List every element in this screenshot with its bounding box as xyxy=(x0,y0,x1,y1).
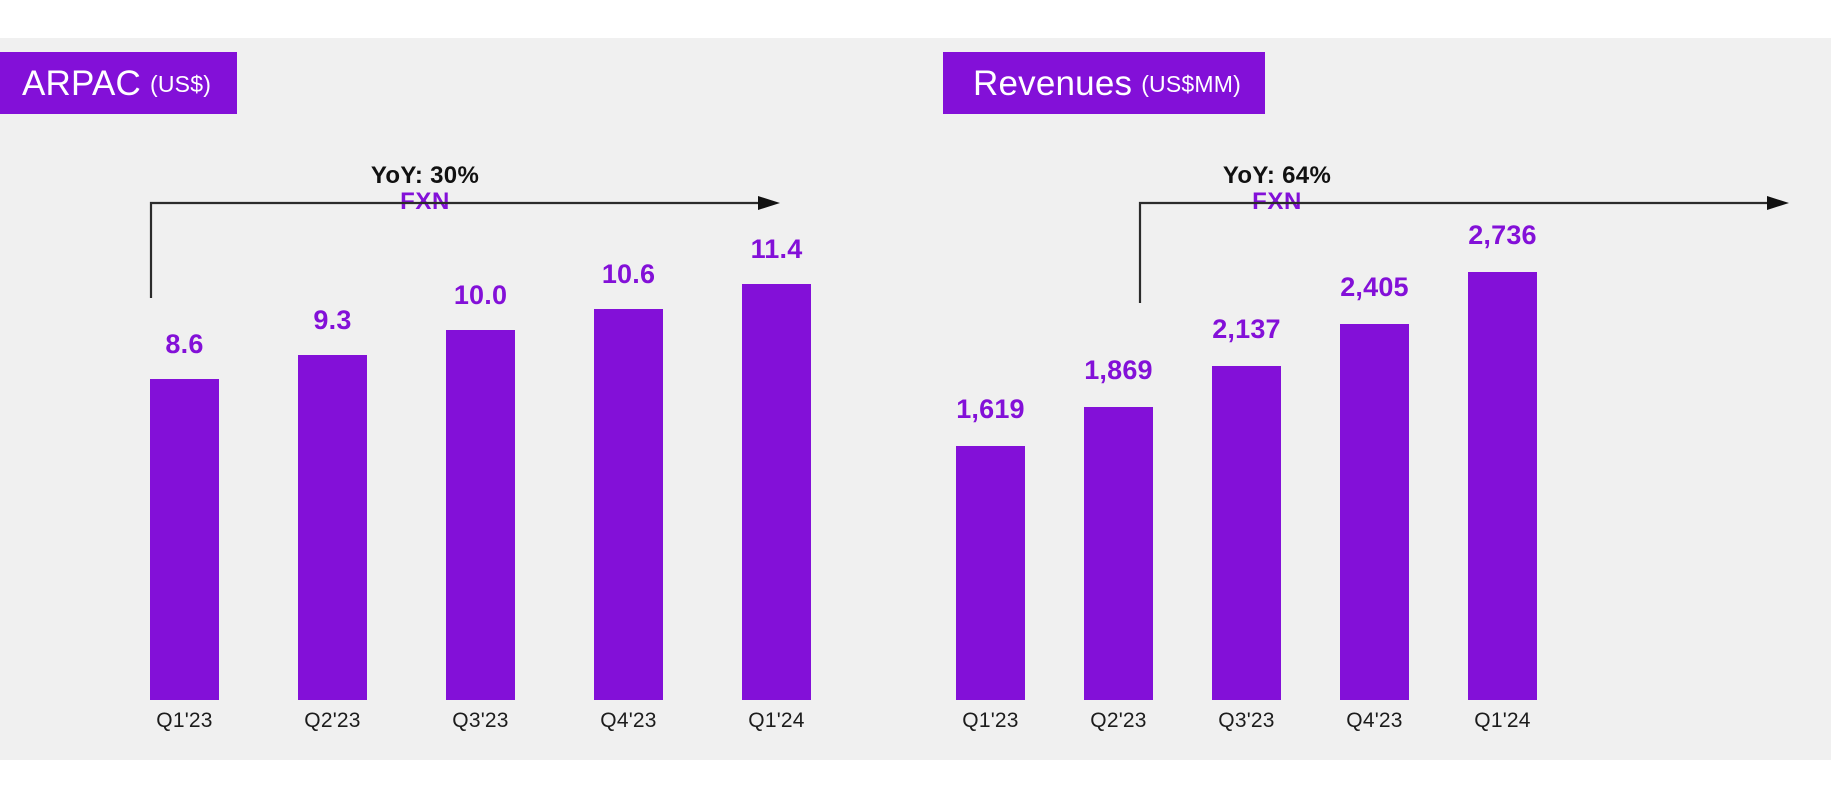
bar-value-revenues-q2-23: 1,869 xyxy=(1050,355,1187,386)
bar-arpac-q4-23 xyxy=(594,309,663,700)
bar-revenues-q1-23 xyxy=(956,446,1025,700)
bar-arpac-q1-23 xyxy=(150,379,219,700)
bar-value-revenues-q3-23: 2,137 xyxy=(1178,314,1315,345)
cat-label-revenues-q3-23: Q3'23 xyxy=(1178,709,1315,733)
slide-root: ARPAC (US$) YoY: 30% FXN 8.6 Q1'23 9.3 Q… xyxy=(0,0,1831,802)
slide-canvas: ARPAC (US$) YoY: 30% FXN 8.6 Q1'23 9.3 Q… xyxy=(0,38,1831,760)
bar-revenues-q3-23 xyxy=(1212,366,1281,700)
cat-label-revenues-q4-23: Q4'23 xyxy=(1306,709,1443,733)
cat-label-arpac-q1-23: Q1'23 xyxy=(116,709,253,733)
bar-value-arpac-q4-23: 10.6 xyxy=(560,259,697,290)
cat-label-revenues-q1-24: Q1'24 xyxy=(1434,709,1571,733)
bar-value-arpac-q3-23: 10.0 xyxy=(412,280,549,311)
panel-revenues: Revenues (US$MM) YoY: 64% FXN 1,619 Q1'2… xyxy=(915,38,1831,760)
bar-arpac-q3-23 xyxy=(446,330,515,700)
bar-value-arpac-q1-24: 11.4 xyxy=(708,234,845,265)
bar-value-revenues-q1-23: 1,619 xyxy=(922,394,1059,425)
bar-arpac-q1-24 xyxy=(742,284,811,700)
panel-arpac: ARPAC (US$) YoY: 30% FXN 8.6 Q1'23 9.3 Q… xyxy=(0,38,915,760)
arpac-plot-area: 8.6 Q1'23 9.3 Q2'23 10.0 Q3'23 10.6 Q4'2… xyxy=(0,38,915,760)
bar-value-revenues-q1-24: 2,736 xyxy=(1434,220,1571,251)
bar-revenues-q1-24 xyxy=(1468,272,1537,700)
cat-label-revenues-q2-23: Q2'23 xyxy=(1050,709,1187,733)
bar-revenues-q2-23 xyxy=(1084,407,1153,700)
cat-label-revenues-q1-23: Q1'23 xyxy=(922,709,1059,733)
cat-label-arpac-q3-23: Q3'23 xyxy=(412,709,549,733)
bar-value-arpac-q2-23: 9.3 xyxy=(264,305,401,336)
revenues-plot-area: 1,619 Q1'23 1,869 Q2'23 2,137 Q3'23 2,40… xyxy=(915,38,1831,760)
bar-value-arpac-q1-23: 8.6 xyxy=(116,329,253,360)
bar-arpac-q2-23 xyxy=(298,355,367,700)
cat-label-arpac-q4-23: Q4'23 xyxy=(560,709,697,733)
bar-revenues-q4-23 xyxy=(1340,324,1409,700)
cat-label-arpac-q2-23: Q2'23 xyxy=(264,709,401,733)
bar-value-revenues-q4-23: 2,405 xyxy=(1306,272,1443,303)
cat-label-arpac-q1-24: Q1'24 xyxy=(708,709,845,733)
